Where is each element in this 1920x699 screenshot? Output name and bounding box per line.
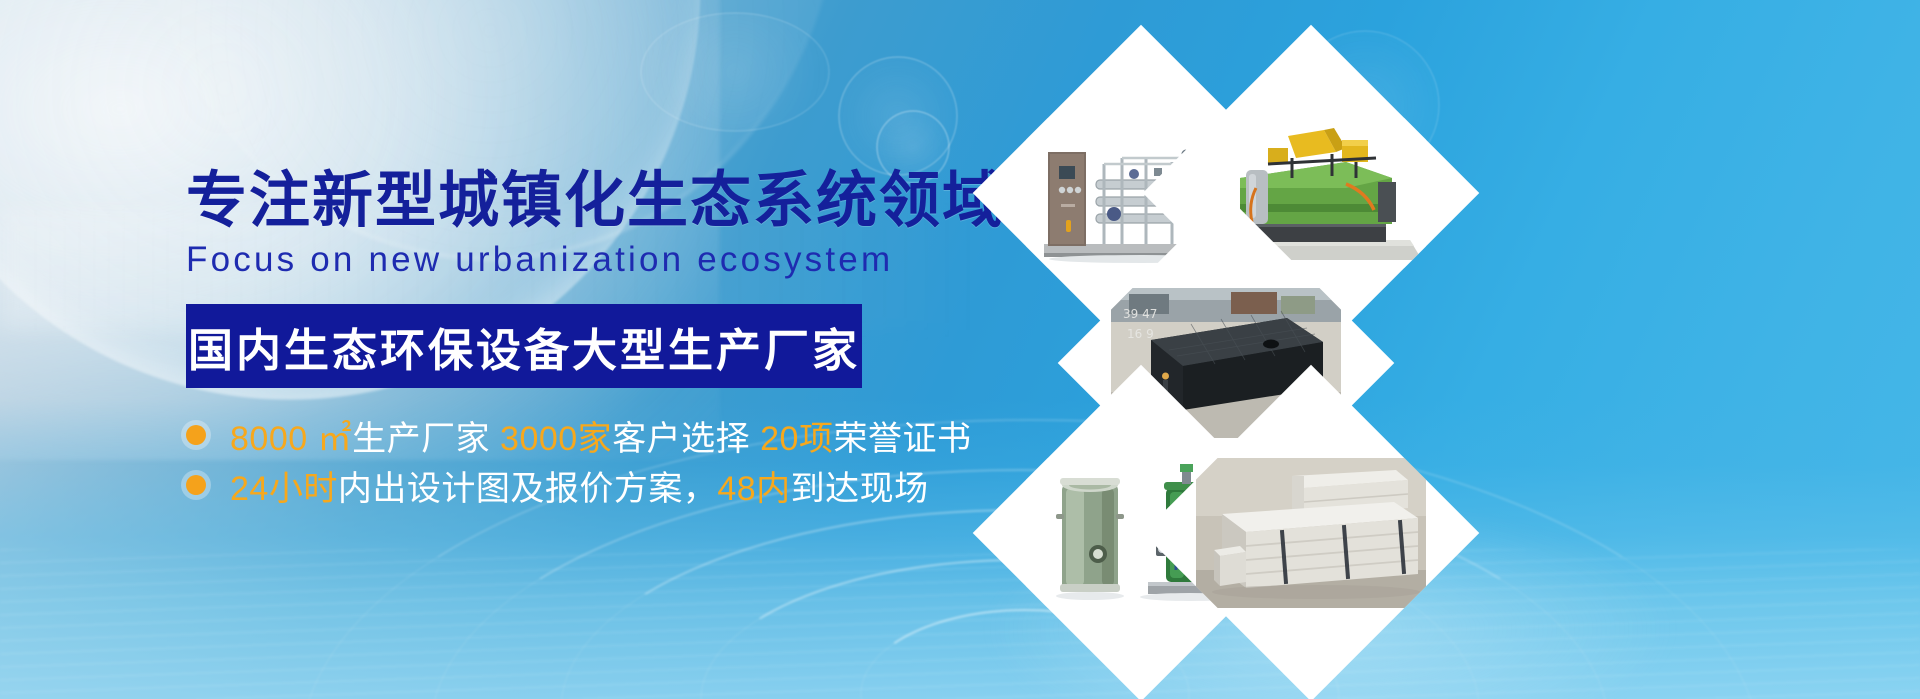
page-title: 专注新型城镇化生态系统领域	[186, 166, 926, 234]
bullet-plain-text: 客户选择	[612, 420, 750, 458]
bullet-highlight-text: 48内	[717, 470, 790, 508]
bullet-highlight-text: 20项	[750, 420, 833, 458]
list-item: 8000 ㎡生产厂家 3000家客户选择 20项荣誉证书	[186, 410, 926, 460]
bullet-highlight-text: 3000家	[490, 420, 612, 458]
image-stacked-panels	[1196, 448, 1426, 618]
bullet-plain-text: 生产厂家	[352, 420, 490, 458]
bullet-highlight-text: 24小时	[230, 470, 338, 508]
background-bokeh-ring-3	[640, 12, 830, 132]
bullet-text-1: 8000 ㎡生产厂家 3000家客户选择 20项荣誉证书	[230, 411, 971, 460]
bullet-dot-icon	[186, 475, 206, 495]
svg-text:39 47: 39 47	[1123, 307, 1157, 321]
ribbon-banner-text: 国内生态环保设备大型生产厂家	[188, 314, 860, 379]
bullet-plain-text: 内出设计图及报价方案，	[338, 470, 718, 508]
bullet-dot-icon	[186, 425, 206, 445]
hero-banner: 专注新型城镇化生态系统领域 Focus on new urbanization …	[0, 0, 1920, 699]
product-diamond-grid: 39 47 16 9	[900, 40, 1600, 600]
ribbon-banner: 国内生态环保设备大型生产厂家	[186, 304, 862, 388]
bullet-text-2: 24小时内出设计图及报价方案，48内到达现场	[230, 461, 929, 510]
svg-text:16 9: 16 9	[1127, 327, 1154, 341]
hero-copy-block: 专注新型城镇化生态系统领域 Focus on new urbanization …	[186, 166, 926, 510]
list-item: 24小时内出设计图及报价方案，48内到达现场	[186, 460, 926, 510]
feature-bullet-list: 8000 ㎡生产厂家 3000家客户选择 20项荣誉证书 24小时内出设计图及报…	[186, 410, 926, 510]
bullet-highlight-text: 8000 ㎡	[230, 420, 352, 458]
page-subtitle: Focus on new urbanization ecosystem	[186, 240, 926, 280]
